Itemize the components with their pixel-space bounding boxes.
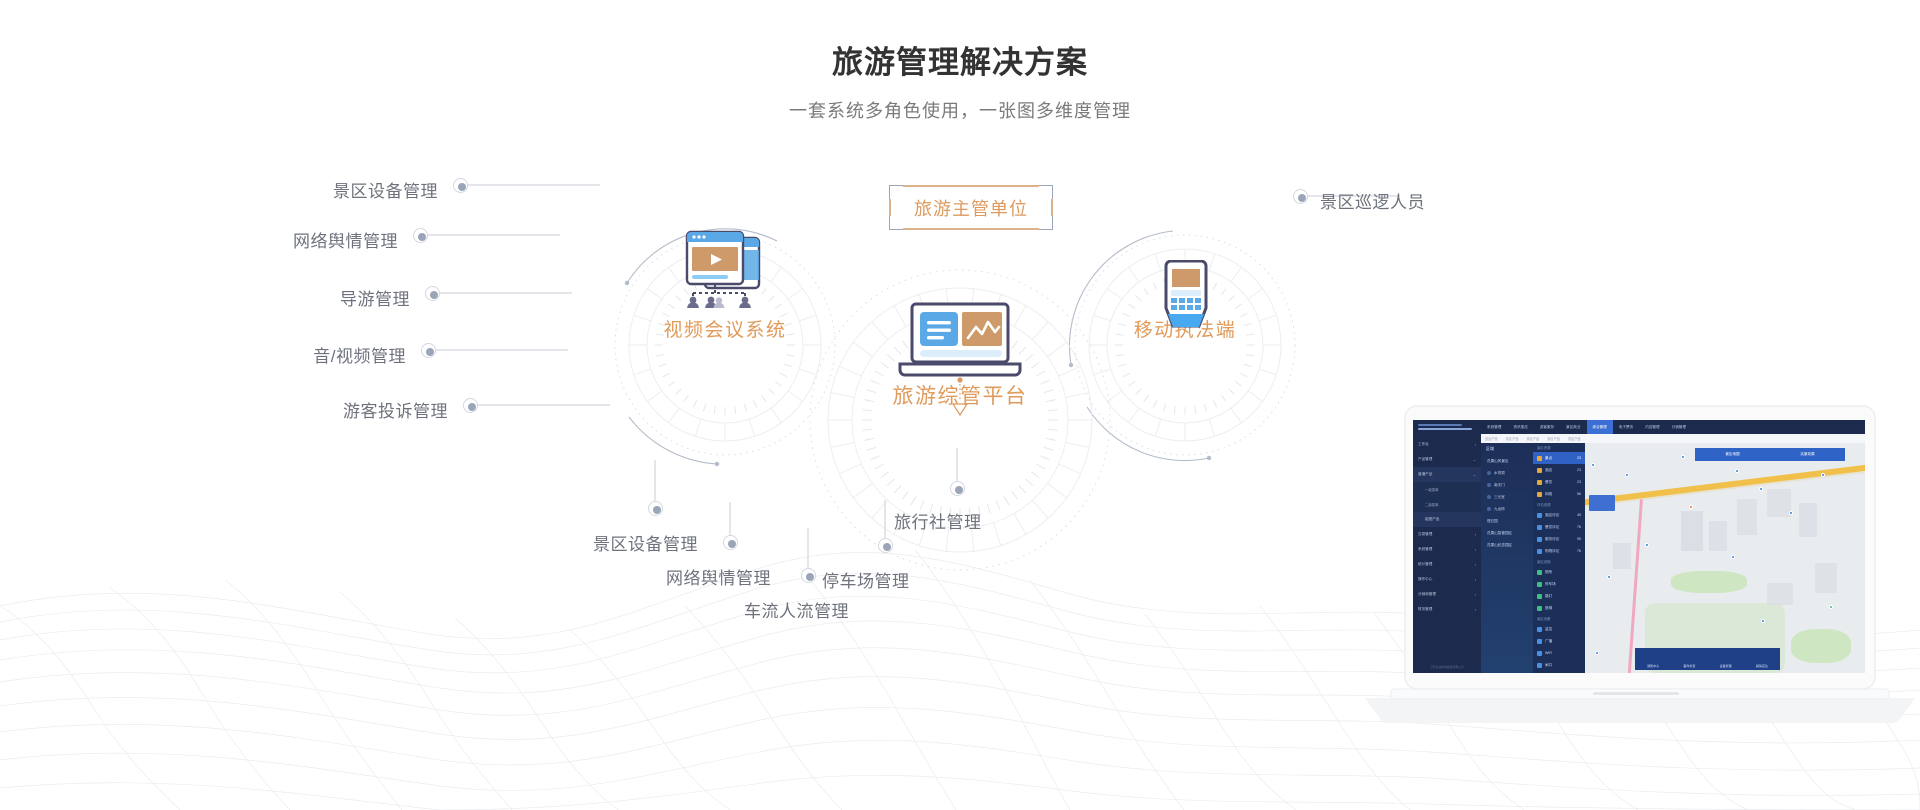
node-title-video-conference: 视频会议系统: [625, 315, 825, 342]
layer-color-swatch: [1537, 537, 1542, 542]
laptop-dashboard-icon: [898, 302, 1022, 383]
left-connectors: [420, 185, 610, 405]
layer-color-swatch: [1537, 606, 1542, 611]
layer-item-hotel[interactable]: 酒店23: [1533, 464, 1585, 476]
layer-label: 闸口: [1545, 663, 1552, 668]
solution-diagram-page: 旅游管理解决方案 一套系统多角色使用，一张图多维度管理: [0, 0, 1920, 810]
nav-tab-6[interactable]: 内容管理: [1639, 420, 1665, 434]
tree-bullet: [1487, 507, 1491, 511]
sidebar-item-10[interactable]: 分销商管理›: [1413, 587, 1481, 602]
layer-item-parking[interactable]: 停车场: [1533, 578, 1585, 590]
label-bottom-1: 景区设备管理: [593, 530, 698, 555]
layer-item-scenic[interactable]: 景点23: [1533, 452, 1585, 464]
sidebar-label: 系统管理: [1418, 547, 1432, 552]
map-canvas[interactable]: 景区地图 实景效果 通知中心 事件处置 设备管理 舆情应急: [1585, 443, 1865, 673]
layer-label: 景点: [1545, 456, 1552, 461]
label-bottom-2: 网络舆情管理: [666, 564, 771, 589]
label-left-4: 音/视频管理: [201, 342, 406, 367]
layer-label: 餐饮评论: [1545, 525, 1559, 530]
sidebar-item-11[interactable]: 财务管理›: [1413, 602, 1481, 617]
layer-label: 厕所: [1545, 570, 1552, 575]
layer-count: 76: [1577, 549, 1581, 553]
sidebar-item-8[interactable]: 统计管理›: [1413, 557, 1481, 572]
layer-label: 路灯: [1545, 594, 1552, 599]
chevron-right-icon: ›: [1475, 533, 1476, 537]
layer-label: 停车场: [1545, 582, 1556, 587]
dock-item-2[interactable]: 设备管理: [1720, 664, 1732, 668]
chevron-right-icon: ›: [1475, 443, 1476, 447]
layer-count: 76: [1577, 525, 1581, 529]
dock-item-0[interactable]: 通知中心: [1647, 664, 1659, 668]
layer-color-swatch: [1537, 525, 1542, 530]
tree-label: 怪石园: [1487, 519, 1498, 524]
tree-label: 花果山智管园区: [1487, 531, 1512, 536]
app-logo: [1413, 420, 1481, 434]
top-nav-tabs[interactable]: 系统管理 资讯推送 游客服务 景区商业 综合管理 电子票务 内容管理 分销管理: [1481, 420, 1865, 434]
diagram-vectors: [0, 130, 1400, 770]
video-window-icon: [683, 230, 769, 313]
sidebar-label: 二级菜单: [1425, 502, 1439, 507]
tree-label: 花果山纪念园区: [1487, 543, 1512, 548]
layer-section-3: 景区设备: [1533, 614, 1585, 623]
nav-tab-7[interactable]: 分销管理: [1666, 420, 1692, 434]
tree-node-3[interactable]: 三元宫: [1481, 491, 1533, 503]
tree-node-7[interactable]: 花果山纪念园区: [1481, 539, 1533, 551]
sidebar-item-0[interactable]: 工作台›: [1413, 437, 1481, 452]
layer-color-swatch: [1537, 513, 1542, 518]
sidebar-item-9[interactable]: 操作中心›: [1413, 572, 1481, 587]
nav-tab-1[interactable]: 资讯推送: [1507, 420, 1533, 434]
dock-item-3[interactable]: 舆情应急: [1756, 664, 1768, 668]
sidebar-item-1[interactable]: 产品管理⌄: [1413, 452, 1481, 467]
dock-item-1[interactable]: 事件处置: [1683, 664, 1695, 668]
page-subtitle: 一套系统多角色使用，一张图多维度管理: [0, 98, 1920, 124]
layer-label: 座椅: [1545, 606, 1552, 611]
layer-item-streetlight[interactable]: 路灯: [1533, 590, 1585, 602]
chevron-right-icon: ›: [1475, 593, 1476, 597]
layer-count: 56: [1577, 492, 1581, 496]
layer-item-food[interactable]: 餐饮23: [1533, 476, 1585, 488]
badge-corner-bl: [889, 216, 903, 230]
sidebar-label: 普通产品: [1418, 472, 1432, 477]
tree-label: 九龙桥: [1494, 507, 1505, 512]
page-title: 旅游管理解决方案: [0, 42, 1920, 84]
region-tree[interactable]: 花果山风景区 水帘洞 南天门 三元宫 九龙桥 怪石园 花果山智管园区 花果山纪念…: [1481, 455, 1533, 673]
layer-color-swatch: [1537, 582, 1542, 587]
tree-node-0[interactable]: 花果山风景区: [1481, 455, 1533, 467]
connector-dot-right-1: [1293, 189, 1308, 204]
layer-item-food-review[interactable]: 餐饮评论76: [1533, 521, 1585, 533]
tree-node-4[interactable]: 九龙桥: [1481, 503, 1533, 515]
layer-color-swatch: [1537, 663, 1542, 668]
layer-label: 酒店: [1545, 468, 1552, 473]
map-mode-region[interactable]: 景区地图: [1695, 448, 1770, 461]
chevron-right-icon: ›: [1475, 548, 1476, 552]
label-left-5: 游客投诉管理: [243, 397, 448, 422]
layer-label: 广播: [1545, 639, 1552, 644]
chevron-down-icon: ⌄: [1473, 458, 1476, 462]
layer-color-swatch: [1537, 570, 1542, 575]
nav-tab-3[interactable]: 景区商业: [1560, 420, 1586, 434]
sidebar-item-6[interactable]: 交易管理›: [1413, 527, 1481, 542]
authority-badge: 旅游主管单位: [889, 185, 1053, 230]
connector-dot-bottom-5: [950, 481, 965, 496]
tree-bullet: [1487, 483, 1491, 487]
nav-tab-2[interactable]: 游客服务: [1534, 420, 1560, 434]
sidebar-label: 交易管理: [1418, 532, 1432, 537]
map-mode-switch[interactable]: 景区地图 实景效果: [1695, 448, 1845, 461]
badge-edge-bottom: [903, 228, 1039, 230]
sidebar-label: 产品管理: [1418, 457, 1432, 462]
layer-color-swatch: [1537, 594, 1542, 599]
app-sidebar[interactable]: 工作台› 产品管理⌄ 普通产品⌄ 一级菜单 二级菜单 组团产品 交易管理› 系统…: [1413, 434, 1481, 673]
open-tab-4[interactable]: 景区产品: [1568, 436, 1581, 441]
sidebar-item-4[interactable]: 二级菜单: [1413, 497, 1481, 512]
layer-count: 95: [1577, 537, 1581, 541]
connector-dot-left-5: [463, 398, 478, 413]
sidebar-label: 组团产品: [1425, 517, 1439, 522]
label-right-1: 景区巡逻人员: [1320, 188, 1425, 213]
label-left-2: 网络舆情管理: [193, 227, 398, 252]
layer-label: 服务评论: [1545, 537, 1559, 542]
tree-node-1[interactable]: 水帘洞: [1481, 467, 1533, 479]
tree-label: 三元宫: [1494, 495, 1505, 500]
layer-count: 23: [1577, 480, 1581, 484]
badge-edge-left: [889, 199, 891, 216]
chevron-down-icon: ⌄: [1473, 473, 1476, 477]
connector-dot-bottom-3: [801, 568, 816, 583]
layer-label: 酒店评论: [1545, 513, 1559, 518]
page-header: 旅游管理解决方案 一套系统多角色使用，一张图多维度管理: [0, 42, 1920, 124]
handheld-device-icon: [1160, 260, 1212, 339]
sidebar-label: 工作台: [1418, 442, 1429, 447]
layer-count: 45: [1577, 513, 1581, 517]
badge-corner-tr: [1039, 185, 1053, 199]
badge-edge-top: [903, 185, 1039, 187]
app-topbar: 系统管理 资讯推送 游客服务 景区商业 综合管理 电子票务 内容管理 分销管理: [1413, 420, 1865, 434]
sidebar-item-5[interactable]: 组团产品: [1413, 512, 1481, 527]
label-bottom-4: 停车场管理: [822, 567, 910, 592]
open-tabs-strip[interactable]: 景区产品 景区产品 景区产品 景区产品 景区产品: [1481, 434, 1865, 443]
connector-dot-left-1: [453, 178, 468, 193]
tree-label: 水帘洞: [1494, 471, 1505, 476]
nav-tab-4[interactable]: 综合管理: [1587, 420, 1613, 434]
nav-tab-5[interactable]: 电子票务: [1613, 420, 1639, 434]
layer-section-0: 景区资源: [1533, 443, 1585, 452]
layer-item-toilet[interactable]: 厕所: [1533, 566, 1585, 578]
laptop-screen: 景区地图 实景效果 通知中心 事件处置 设备管理 舆情应急 区域 花果山风景区 …: [1413, 420, 1865, 673]
tree-node-2[interactable]: 南天门: [1481, 479, 1533, 491]
layer-item-camera[interactable]: 监控: [1533, 623, 1585, 635]
layer-label: 监控: [1545, 627, 1552, 632]
badge-corner-tl: [889, 185, 903, 199]
layer-count: 23: [1577, 468, 1581, 472]
chevron-right-icon: ›: [1475, 563, 1476, 567]
layer-section-1: 评论资源: [1533, 500, 1585, 509]
layer-color-swatch: [1537, 627, 1542, 632]
label-left-1: 景区设备管理: [233, 177, 438, 202]
layer-label: WiFi: [1545, 651, 1552, 655]
connector-dot-left-3: [425, 286, 440, 301]
label-bottom-5: 旅行社管理: [894, 508, 982, 533]
connector-dot-bottom-1: [648, 501, 663, 516]
layer-color-swatch: [1537, 456, 1542, 461]
layer-item-gate[interactable]: 闸口: [1533, 659, 1585, 671]
connector-dot-bottom-2: [723, 535, 738, 550]
sidebar-label: 分销商管理: [1418, 592, 1436, 597]
connector-dot-left-4: [421, 343, 436, 358]
tree-label: 南天门: [1494, 483, 1505, 488]
chevron-right-icon: ›: [1475, 578, 1476, 582]
architecture-diagram: 景区设备管理 网络舆情管理 导游管理 音/视频管理 游客投诉管理 景区巡逻人员 …: [0, 130, 1400, 770]
sidebar-footer: 江苏高速科技股份有限公司: [1413, 665, 1481, 669]
open-tab-0[interactable]: 景区产品: [1485, 436, 1498, 441]
label-bottom-3: 车流人流管理: [744, 597, 849, 622]
sidebar-label: 统计管理: [1418, 562, 1432, 567]
connector-dot-left-2: [413, 228, 428, 243]
tree-node-5[interactable]: 怪石园: [1481, 515, 1533, 527]
tree-bullet: [1487, 471, 1491, 475]
layer-section-2: 景区设施: [1533, 557, 1585, 566]
layers-panel: 区域 花果山风景区 水帘洞 南天门 三元宫 九龙桥 怪石园 花果山智管园区 花果…: [1481, 443, 1585, 673]
sidebar-label: 操作中心: [1418, 577, 1432, 582]
layer-item-broadcast[interactable]: 广播: [1533, 635, 1585, 647]
sidebar-label: 财务管理: [1418, 607, 1432, 612]
layer-count: 23: [1577, 456, 1581, 460]
chevron-right-icon: ›: [1475, 608, 1476, 612]
layer-color-swatch: [1537, 651, 1542, 656]
layer-color-swatch: [1537, 468, 1542, 473]
open-tab-2[interactable]: 景区产品: [1527, 436, 1540, 441]
layer-color-swatch: [1537, 549, 1542, 554]
sidebar-item-2[interactable]: 普通产品⌄: [1413, 467, 1481, 482]
layer-label: 餐饮: [1545, 480, 1552, 485]
layer-item-network[interactable]: 网络56: [1533, 488, 1585, 500]
sidebar-item-7[interactable]: 系统管理›: [1413, 542, 1481, 557]
nav-tab-0[interactable]: 系统管理: [1481, 420, 1507, 434]
map-dock[interactable]: 通知中心 事件处置 设备管理 舆情应急: [1635, 648, 1780, 670]
open-tab-1[interactable]: 景区产品: [1506, 436, 1519, 441]
tree-label: 花果山风景区: [1487, 459, 1509, 464]
label-left-3: 导游管理: [205, 285, 410, 310]
open-tab-3[interactable]: 景区产品: [1547, 436, 1560, 441]
badge-corner-br: [1039, 216, 1053, 230]
badge-edge-right: [1051, 199, 1053, 216]
layer-item-shopping-review[interactable]: 购物评论76: [1533, 545, 1585, 557]
layer-color-swatch: [1537, 639, 1542, 644]
layer-color-swatch: [1537, 480, 1542, 485]
layer-item-seat[interactable]: 座椅: [1533, 602, 1585, 614]
badge-label: 旅游主管单位: [914, 195, 1028, 221]
layer-label: 网络: [1545, 492, 1552, 497]
laptop-mockup: 景区地图 实景效果 通知中心 事件处置 设备管理 舆情应急 区域 花果山风景区 …: [1355, 398, 1915, 810]
layer-item-wifi[interactable]: WiFi: [1533, 647, 1585, 659]
sidebar-item-3[interactable]: 一级菜单: [1413, 482, 1481, 497]
tree-bullet: [1487, 495, 1491, 499]
tree-node-6[interactable]: 花果山智管园区: [1481, 527, 1533, 539]
sidebar-label: 一级菜单: [1425, 487, 1439, 492]
connector-dot-bottom-4: [878, 538, 893, 553]
layer-item-hotel-review[interactable]: 酒店评论45: [1533, 509, 1585, 521]
layer-label: 购物评论: [1545, 549, 1559, 554]
node-title-tourism-platform: 旅游综管平台: [860, 380, 1060, 410]
map-mode-realview[interactable]: 实景效果: [1770, 448, 1845, 461]
layer-list[interactable]: 景区资源 景点23 酒店23 餐饮23 网络56 评论资源 酒店评论45 餐饮评…: [1533, 443, 1585, 673]
layer-item-service-review[interactable]: 服务评论95: [1533, 533, 1585, 545]
layer-color-swatch: [1537, 492, 1542, 497]
